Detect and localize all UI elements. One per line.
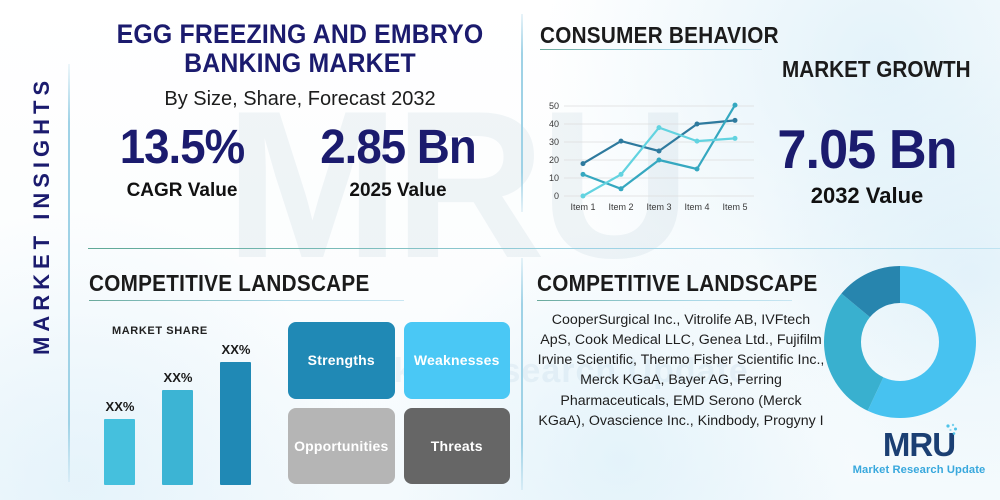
logo-mark: MRU (883, 428, 955, 461)
company-list: CooperSurgical Inc., Vitrolife AB, IVFte… (536, 310, 826, 431)
donut-chart-svg (822, 264, 978, 420)
bar-value-label: XX% (206, 342, 266, 357)
kpi-2032-value: 7.05 Bn (758, 122, 977, 177)
market-growth-title: MARKET GROWTH (782, 56, 971, 83)
section-heading-competitive-right: COMPETITIVE LANDSCAPE (537, 270, 818, 297)
kpi-cagr-value: 13.5% (97, 124, 268, 172)
brand-logo: MRU Market Research Update (848, 428, 990, 476)
bar-item: XX% (162, 390, 193, 485)
section-rule-competitive-left (89, 300, 404, 301)
kpi-2032: 7.05 Bn 2032 Value (752, 122, 982, 209)
logo-droplet-icon (944, 423, 958, 439)
row-divider (88, 248, 1000, 249)
svg-text:Item 5: Item 5 (722, 202, 747, 212)
kpi-2025-value: 2.85 Bn (295, 124, 500, 172)
svg-text:10: 10 (549, 173, 559, 183)
section-rule-competitive-right (537, 300, 792, 301)
bar-rect (104, 419, 135, 485)
bar-item: XX% (104, 419, 135, 485)
swot-box-weaknesses[interactable]: Weaknesses (404, 322, 511, 399)
svg-text:30: 30 (549, 137, 559, 147)
logo-subtitle: Market Research Update (848, 464, 990, 476)
bar-rect (162, 390, 193, 485)
svg-text:0: 0 (554, 191, 559, 201)
rail-divider (68, 64, 70, 482)
bar-item: XX% (220, 362, 251, 485)
swot-box-opportunities[interactable]: Opportunities (288, 408, 395, 485)
svg-text:Item 2: Item 2 (608, 202, 633, 212)
svg-text:50: 50 (549, 101, 559, 111)
page-subtitle: By Size, Share, Forecast 2032 (90, 88, 510, 111)
kpi-cagr: 13.5% CAGR Value (92, 124, 272, 202)
swot-box-threats[interactable]: Threats (404, 408, 511, 485)
bar-chart: XX%XX%XX% (104, 345, 274, 485)
column-divider-top (521, 14, 523, 212)
donut-chart (822, 264, 978, 420)
page-title: EGG FREEZING AND EMBRYO BANKING MARKET (107, 20, 493, 78)
svg-text:Item 4: Item 4 (684, 202, 709, 212)
kpi-2032-label: 2032 Value (752, 183, 982, 209)
kpi-2025: 2.85 Bn 2025 Value (290, 124, 506, 202)
swot-grid: StrengthsWeaknessesOpportunitiesThreats (288, 322, 510, 484)
section-heading-competitive-left: COMPETITIVE LANDSCAPE (89, 270, 370, 297)
bar-value-label: XX% (148, 370, 208, 385)
swot-box-strengths[interactable]: Strengths (288, 322, 395, 399)
bar-value-label: XX% (90, 399, 150, 414)
bar-rect (220, 362, 251, 485)
section-rule-consumer-behavior (540, 49, 762, 50)
section-heading-consumer-behavior: CONSUMER BEHAVIOR (540, 22, 779, 49)
svg-text:Item 1: Item 1 (570, 202, 595, 212)
side-rail-label: MARKET INSIGHTS (29, 95, 55, 355)
infographic-root: MRU Market Research Update MARKET INSIGH… (0, 0, 1000, 500)
svg-text:20: 20 (549, 155, 559, 165)
svg-text:40: 40 (549, 119, 559, 129)
kpi-cagr-label: CAGR Value (92, 180, 272, 202)
bar-chart-title: MARKET SHARE (112, 325, 208, 337)
line-chart-svg: 01020304050Item 1Item 2Item 3Item 4Item … (540, 100, 760, 216)
kpi-2025-label: 2025 Value (290, 180, 506, 202)
svg-text:Item 3: Item 3 (646, 202, 671, 212)
column-divider-bottom (521, 258, 523, 490)
line-chart: 01020304050Item 1Item 2Item 3Item 4Item … (540, 100, 760, 216)
